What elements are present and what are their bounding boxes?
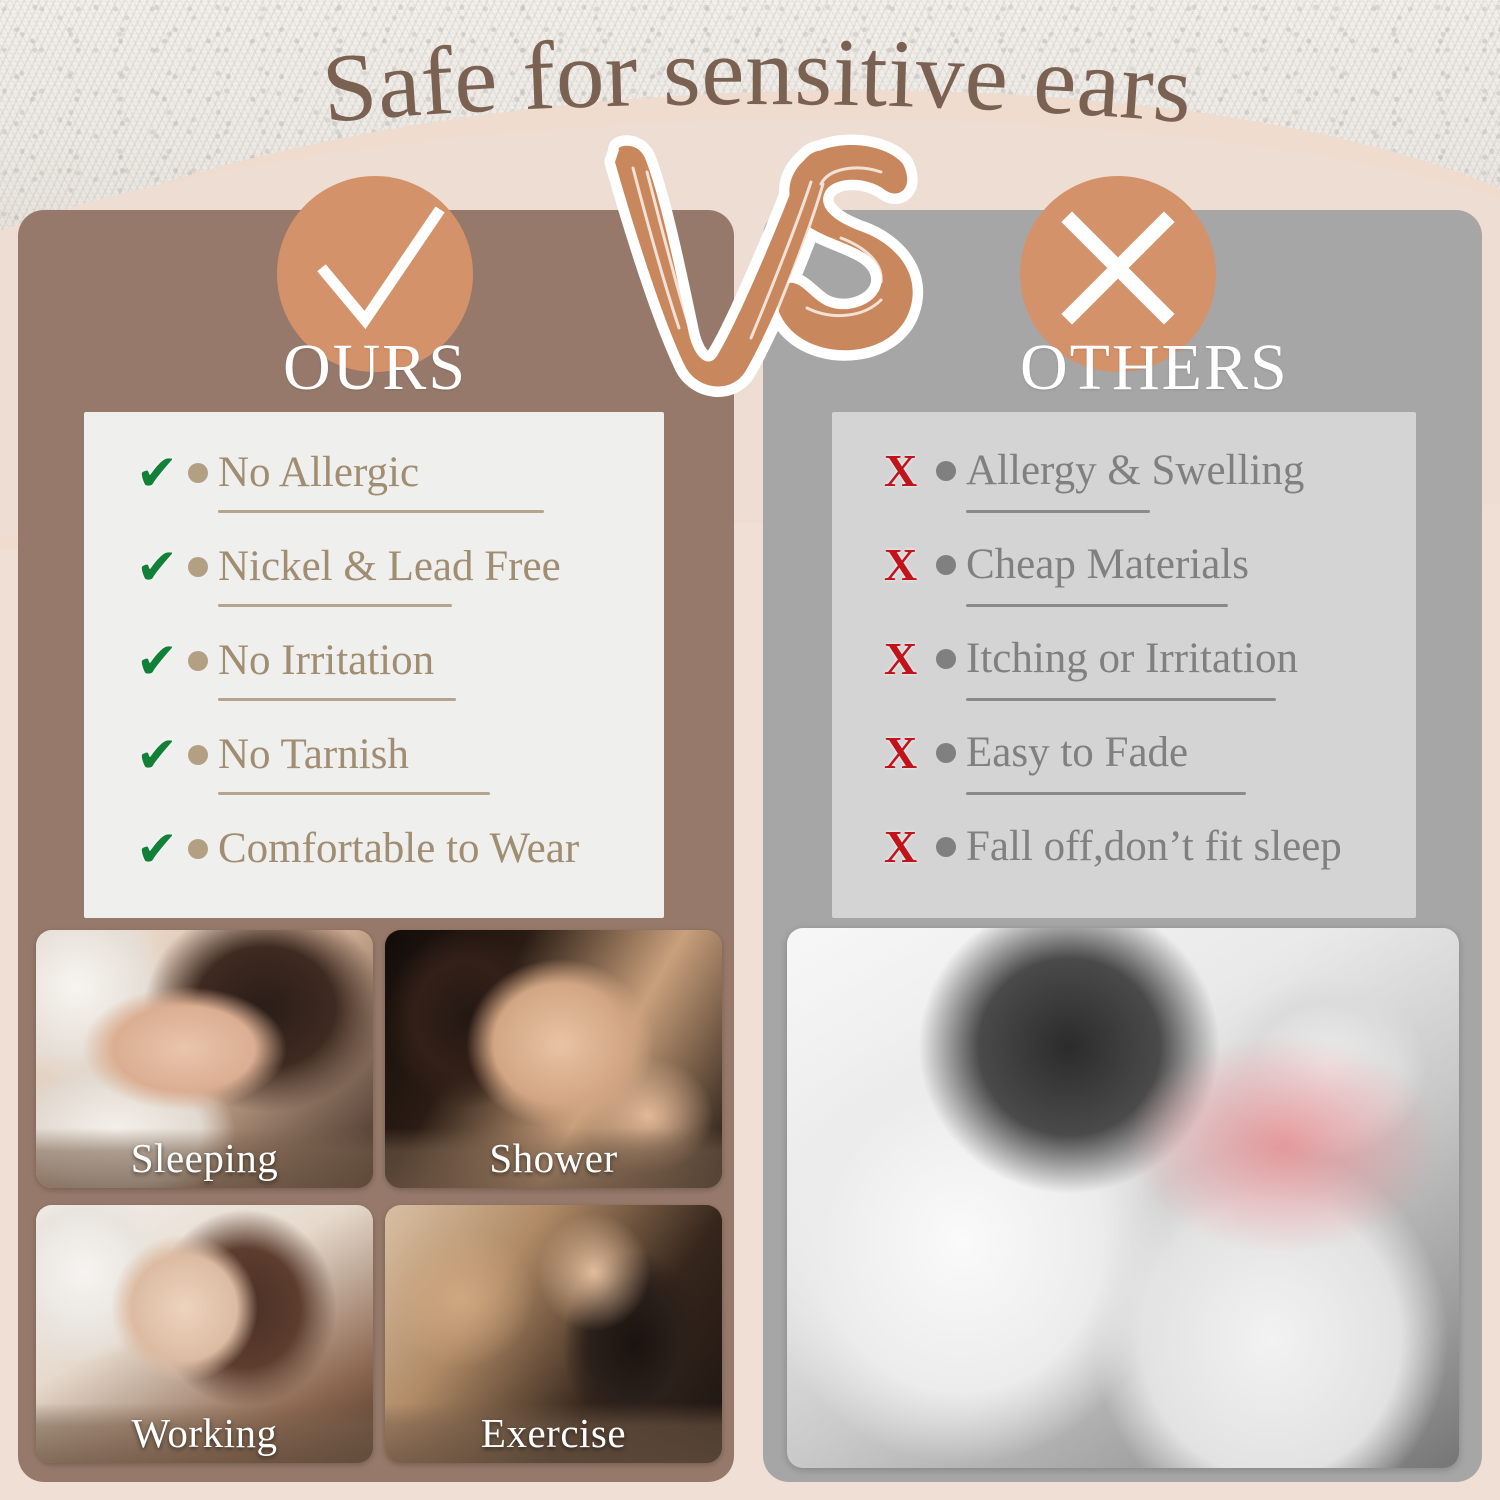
scenario-caption: Sleeping xyxy=(36,1128,373,1188)
bullet-dot xyxy=(188,745,208,765)
list-divider xyxy=(218,698,456,701)
list-item[interactable]: ✔ Nickel & Lead Free xyxy=(84,542,664,592)
list-item[interactable]: X Cheap Materials xyxy=(832,542,1416,588)
list-item[interactable]: X Fall off,don’t fit sleep xyxy=(832,824,1416,870)
red-x-icon: X xyxy=(884,542,936,588)
feature-label: Itching or Irritation xyxy=(966,636,1298,681)
feature-label: Fall off,don’t fit sleep xyxy=(966,824,1342,869)
green-check-icon: ✔ xyxy=(136,636,188,686)
list-item[interactable]: X Easy to Fade xyxy=(832,730,1416,776)
scenario-caption: Shower xyxy=(385,1128,722,1188)
list-item[interactable]: ✔ No Allergic xyxy=(84,448,664,498)
comparison-infographic: Safe for sensitive ears OURS OTHERS xyxy=(0,0,1500,1500)
bullet-dot xyxy=(936,743,956,763)
bullet-dot xyxy=(936,555,956,575)
list-divider xyxy=(218,792,490,795)
bullet-dot xyxy=(188,557,208,577)
scenario-caption: Exercise xyxy=(385,1403,722,1463)
scenario-thumbnail-shower[interactable]: Shower xyxy=(385,930,722,1188)
others-feature-box: X Allergy & Swelling X Cheap Materials X… xyxy=(832,412,1416,918)
title-text: Safe for sensitive ears xyxy=(318,18,1196,143)
bullet-dot xyxy=(936,837,956,857)
green-check-icon: ✔ xyxy=(136,730,188,780)
svg-text:Safe for sensitive ears: Safe for sensitive ears xyxy=(318,18,1196,143)
scenario-thumbnail-exercise[interactable]: Exercise xyxy=(385,1205,722,1463)
ours-feature-box: ✔ No Allergic ✔ Nickel & Lead Free ✔ No … xyxy=(84,412,664,918)
feature-label: No Allergic xyxy=(218,450,419,495)
others-label: OTHERS xyxy=(1020,330,1216,406)
feature-label: Comfortable to Wear xyxy=(218,826,579,871)
list-item[interactable]: X Itching or Irritation xyxy=(832,636,1416,682)
green-check-icon: ✔ xyxy=(136,542,188,592)
list-divider xyxy=(966,510,1150,513)
green-check-icon: ✔ xyxy=(136,448,188,498)
list-divider xyxy=(218,510,544,513)
list-divider xyxy=(966,604,1228,607)
scenario-caption: Working xyxy=(36,1403,373,1463)
red-x-icon: X xyxy=(884,730,936,776)
list-item[interactable]: ✔ Comfortable to Wear xyxy=(84,824,664,874)
feature-label: Cheap Materials xyxy=(966,542,1249,587)
bullet-dot xyxy=(936,649,956,669)
list-divider xyxy=(218,604,452,607)
scenario-thumbnail-sleeping[interactable]: Sleeping xyxy=(36,930,373,1188)
feature-label: No Tarnish xyxy=(218,732,409,777)
ours-label: OURS xyxy=(277,330,473,406)
feature-label: Allergy & Swelling xyxy=(966,448,1304,493)
feature-label: Nickel & Lead Free xyxy=(218,544,561,589)
list-item[interactable]: ✔ No Irritation xyxy=(84,636,664,686)
feature-label: Easy to Fade xyxy=(966,730,1188,775)
bullet-dot xyxy=(188,463,208,483)
green-check-icon: ✔ xyxy=(136,824,188,874)
bullet-dot xyxy=(188,839,208,859)
bullet-dot xyxy=(936,461,956,481)
list-divider xyxy=(966,698,1276,701)
vs-icon xyxy=(585,128,925,398)
vs-badge xyxy=(585,128,925,398)
scenario-thumbnail-working[interactable]: Working xyxy=(36,1205,373,1463)
red-x-icon: X xyxy=(884,448,936,494)
list-divider xyxy=(966,792,1246,795)
woman-ear-pain-photo[interactable] xyxy=(787,928,1459,1468)
feature-label: No Irritation xyxy=(218,638,434,683)
red-x-icon: X xyxy=(884,824,936,870)
red-x-icon: X xyxy=(884,636,936,682)
bullet-dot xyxy=(188,651,208,671)
list-item[interactable]: ✔ No Tarnish xyxy=(84,730,664,780)
list-item[interactable]: X Allergy & Swelling xyxy=(832,448,1416,494)
